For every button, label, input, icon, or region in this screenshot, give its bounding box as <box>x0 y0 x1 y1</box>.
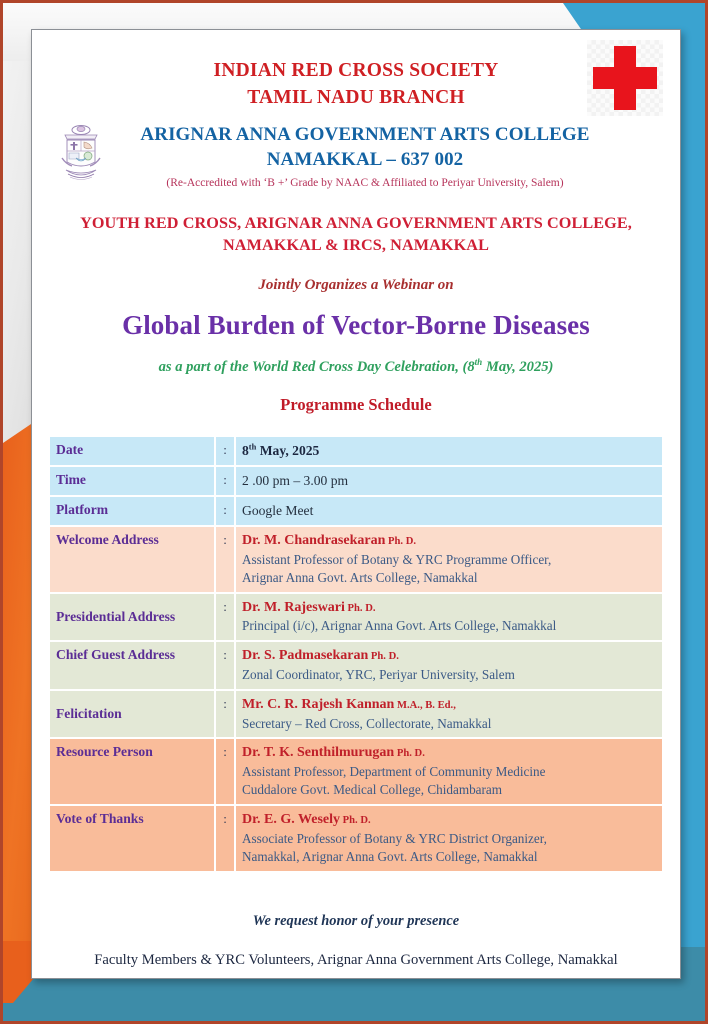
table-row: Presidential Address:Dr. M. Rajeswari Ph… <box>50 594 662 641</box>
speaker-name-text: Dr. M. Chandrasekaran <box>242 533 385 548</box>
organisation-title-line1: INDIAN RED CROSS SOCIETY <box>50 58 662 85</box>
schedule-row-colon: : <box>216 497 236 525</box>
schedule-value-post: May, 2025 <box>256 443 319 458</box>
schedule-row-value: Dr. S. Padmasekaran Ph. D.Zonal Coordina… <box>236 642 662 689</box>
footer-faculty-line: Faculty Members & YRC Volunteers, Arigna… <box>50 952 662 969</box>
speaker-affiliation: Namakkal, Arignar Anna Govt. Arts Colleg… <box>242 848 656 866</box>
schedule-row-value: Google Meet <box>236 497 662 525</box>
speaker-degree: M.A., B. Ed., <box>394 700 456 711</box>
schedule-row-value: 8th May, 2025 <box>236 437 662 466</box>
table-row: Welcome Address:Dr. M. Chandrasekaran Ph… <box>50 527 662 592</box>
schedule-row-colon: : <box>216 739 236 804</box>
organizers-line1: YOUTH RED CROSS, ARIGNAR ANNA GOVERNMENT… <box>50 212 662 234</box>
speaker-affiliation: Secretary – Red Cross, Collectorate, Nam… <box>242 715 656 733</box>
footer-request-line: We request honor of your presence <box>50 913 662 930</box>
schedule-row-value: Dr. E. G. Wesely Ph. D.Associate Profess… <box>236 806 662 871</box>
schedule-row-label: Chief Guest Address <box>50 642 216 689</box>
speaker-affiliation: Zonal Coordinator, YRC, Periyar Universi… <box>242 666 656 684</box>
organizers: YOUTH RED CROSS, ARIGNAR ANNA GOVERNMENT… <box>50 212 662 257</box>
programme-schedule-table: Date:8th May, 2025Time:2 .00 pm – 3.00 p… <box>50 435 662 873</box>
schedule-row-colon: : <box>216 594 236 641</box>
schedule-row-label: Presidential Address <box>50 594 216 641</box>
speaker-name: Dr. T. K. Senthilmurugan Ph. D. <box>242 744 656 763</box>
speaker-name: Dr. M. Rajeswari Ph. D. <box>242 599 656 618</box>
schedule-row-label: Resource Person <box>50 739 216 804</box>
organizers-line2: NAMAKKAL & IRCS, NAMAKKAL <box>50 234 662 256</box>
speaker-affiliation: Assistant Professor of Botany & YRC Prog… <box>242 551 656 569</box>
occasion-text: as a part of the World Red Cross Day Cel… <box>50 357 662 376</box>
speaker-affiliation: Principal (i/c), Arignar Anna Govt. Arts… <box>242 617 656 635</box>
speaker-name-text: Mr. C. R. Rajesh Kannan <box>242 697 394 712</box>
occasion-text-pre: as a part of the World Red Cross Day Cel… <box>159 359 475 375</box>
table-row: Chief Guest Address:Dr. S. Padmasekaran … <box>50 642 662 689</box>
footer: We request honor of your presence Facult… <box>50 913 662 969</box>
programme-schedule-heading: Programme Schedule <box>50 395 662 415</box>
college-emblem-icon <box>58 122 104 184</box>
speaker-name: Mr. C. R. Rajesh Kannan M.A., B. Ed., <box>242 696 656 715</box>
speaker-affiliation: Assistant Professor, Department of Commu… <box>242 763 656 781</box>
speaker-name-text: Dr. S. Padmasekaran <box>242 648 368 663</box>
schedule-row-colon: : <box>216 691 236 738</box>
table-row: Resource Person:Dr. T. K. Senthilmurugan… <box>50 739 662 804</box>
speaker-affiliation: Associate Professor of Botany & YRC Dist… <box>242 830 656 848</box>
speaker-name: Dr. M. Chandrasekaran Ph. D. <box>242 532 656 551</box>
schedule-value-pre: 8 <box>242 443 249 458</box>
schedule-row-label: Platform <box>50 497 216 525</box>
red-cross-icon <box>587 40 663 116</box>
college-name-line2: NAMAKKAL – 637 002 <box>68 147 662 172</box>
schedule-row-colon: : <box>216 467 236 495</box>
schedule-row-colon: : <box>216 642 236 689</box>
speaker-degree: Ph. D. <box>368 651 399 662</box>
table-row: Time:2 .00 pm – 3.00 pm <box>50 467 662 495</box>
table-row: Date:8th May, 2025 <box>50 437 662 466</box>
accreditation-line: (Re-Accredited with ‘B +’ Grade by NAAC … <box>50 177 662 189</box>
speaker-affiliation: Arignar Anna Govt. Arts College, Namakka… <box>242 569 656 587</box>
college-name-line1: ARIGNAR ANNA GOVERNMENT ARTS COLLEGE <box>68 122 662 147</box>
table-row: Platform:Google Meet <box>50 497 662 525</box>
speaker-affiliation: Cuddalore Govt. Medical College, Chidamb… <box>242 781 656 799</box>
college-block: ARIGNAR ANNA GOVERNMENT ARTS COLLEGE NAM… <box>50 122 662 189</box>
webinar-title: Global Burden of Vector-Borne Diseases <box>50 310 662 341</box>
schedule-row-value: Dr. T. K. Senthilmurugan Ph. D.Assistant… <box>236 739 662 804</box>
poster-page: INDIAN RED CROSS SOCIETY TAMIL NADU BRAN… <box>31 29 681 979</box>
speaker-degree: Ph. D. <box>340 815 371 826</box>
speaker-degree: Ph. D. <box>394 748 425 759</box>
speaker-name-text: Dr. T. K. Senthilmurugan <box>242 745 394 760</box>
schedule-row-colon: : <box>216 806 236 871</box>
jointly-organizes-text: Jointly Organizes a Webinar on <box>50 277 662 294</box>
speaker-degree: Ph. D. <box>345 603 376 614</box>
speaker-degree: Ph. D. <box>385 536 416 547</box>
college-name: ARIGNAR ANNA GOVERNMENT ARTS COLLEGE NAM… <box>50 122 662 173</box>
table-row: Vote of Thanks:Dr. E. G. Wesely Ph. D.As… <box>50 806 662 871</box>
poster-frame: INDIAN RED CROSS SOCIETY TAMIL NADU BRAN… <box>0 0 708 1024</box>
schedule-row-colon: : <box>216 527 236 592</box>
schedule-row-label: Vote of Thanks <box>50 806 216 871</box>
table-row: Felicitation:Mr. C. R. Rajesh Kannan M.A… <box>50 691 662 738</box>
organisation-title-line2: TAMIL NADU BRANCH <box>50 85 662 112</box>
speaker-name-text: Dr. E. G. Wesely <box>242 812 340 827</box>
schedule-value-text: 2 .00 pm – 3.00 pm <box>242 473 348 488</box>
speaker-name: Dr. E. G. Wesely Ph. D. <box>242 811 656 830</box>
occasion-text-post: May, 2025) <box>482 359 553 375</box>
speaker-name: Dr. S. Padmasekaran Ph. D. <box>242 647 656 666</box>
schedule-value-text: Google Meet <box>242 503 313 518</box>
speaker-name-text: Dr. M. Rajeswari <box>242 600 345 615</box>
schedule-row-label: Welcome Address <box>50 527 216 592</box>
schedule-row-label: Date <box>50 437 216 466</box>
schedule-row-value: Dr. M. Chandrasekaran Ph. D.Assistant Pr… <box>236 527 662 592</box>
schedule-value-text: 8th May, 2025 <box>242 443 319 458</box>
schedule-row-value: Dr. M. Rajeswari Ph. D.Principal (i/c), … <box>236 594 662 641</box>
organisation-title: INDIAN RED CROSS SOCIETY TAMIL NADU BRAN… <box>50 58 662 111</box>
schedule-row-label: Felicitation <box>50 691 216 738</box>
schedule-row-label: Time <box>50 467 216 495</box>
schedule-row-value: Mr. C. R. Rajesh Kannan M.A., B. Ed.,Sec… <box>236 691 662 738</box>
schedule-row-value: 2 .00 pm – 3.00 pm <box>236 467 662 495</box>
schedule-row-colon: : <box>216 437 236 466</box>
